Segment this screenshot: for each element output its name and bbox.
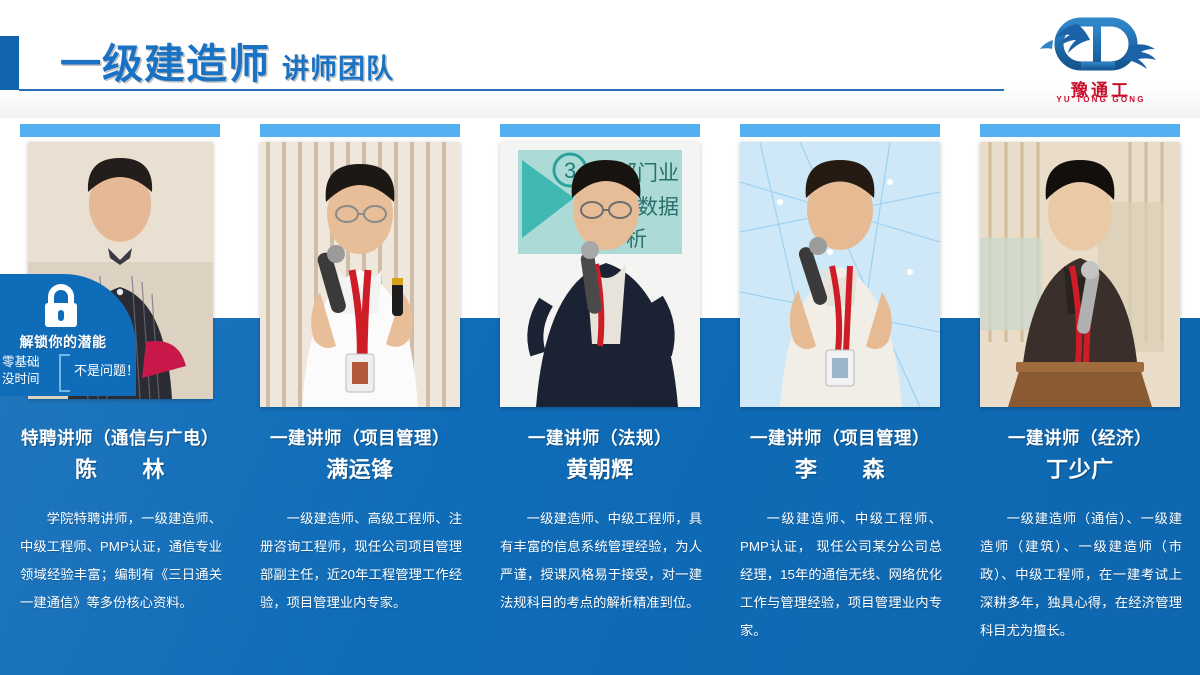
instructor-card-list: 解锁你的潜能 零基础 没时间 不是问题！ 特聘讲师（通信与广电） 陈 林 学院特… <box>0 0 1200 675</box>
card-top-bar <box>740 124 940 137</box>
portrait-image <box>980 142 1180 407</box>
instructor-card[interactable]: 3 部门业 大数据 析 <box>480 0 720 675</box>
instructor-photo <box>980 142 1180 407</box>
card-top-bar <box>20 124 220 137</box>
instructor-card[interactable]: 一建讲师（经济） 丁少广 一级建造师（通信）、一级建造师（建筑）、一级建造师（市… <box>960 0 1200 675</box>
lock-icon <box>38 284 84 328</box>
slide-root: 一级建造师 讲师团队 豫通工 YU TONG GONG <box>0 0 1200 675</box>
instructor-card[interactable]: 一建讲师（项目管理） 满运锋 一级建造师、高级工程师、注册咨询工程师，现任公司项… <box>240 0 480 675</box>
instructor-bio: 学院特聘讲师，一级建造师、中级工程师、PMP认证，通信专业领域经验丰富；编制有《… <box>20 505 222 617</box>
instructor-bio: 一级建造师（通信）、一级建造师（建筑）、一级建造师（市政）、中级工程师，在一建考… <box>980 505 1182 645</box>
portrait-image <box>260 142 460 407</box>
instructor-name: 满运锋 <box>244 452 476 484</box>
unlock-potential-badge: 解锁你的潜能 零基础 没时间 不是问题！ <box>0 274 136 396</box>
instructor-photo: 3 部门业 大数据 析 <box>500 142 700 407</box>
instructor-name: 丁少广 <box>964 452 1196 484</box>
instructor-card[interactable]: 解锁你的潜能 零基础 没时间 不是问题！ 特聘讲师（通信与广电） 陈 林 学院特… <box>0 0 240 675</box>
badge-left-line1: 零基础 <box>2 354 56 371</box>
instructor-photo <box>260 142 460 407</box>
instructor-role: 一建讲师（项目管理） <box>244 428 476 449</box>
instructor-bio: 一级建造师、中级工程师，具有丰富的信息系统管理经验，为人严谨，授课风格易于接受，… <box>500 505 702 617</box>
portrait-image <box>740 142 940 407</box>
instructor-role: 特聘讲师（通信与广电） <box>4 428 236 449</box>
instructor-card[interactable]: 一建讲师（项目管理） 李 森 一级建造师、中级工程师、 PMP认证， 现任公司某… <box>720 0 960 675</box>
badge-left-line2: 没时间 <box>2 371 56 388</box>
instructor-bio: 一级建造师、高级工程师、注册咨询工程师，现任公司项目管理部副主任，近20年工程管… <box>260 505 462 617</box>
badge-headline: 解锁你的潜能 <box>0 332 136 352</box>
instructor-name: 李 森 <box>724 452 956 484</box>
instructor-name: 黄朝辉 <box>484 452 716 484</box>
badge-right-text: 不是问题！ <box>74 362 139 379</box>
card-top-bar <box>260 124 460 137</box>
instructor-name: 陈 林 <box>4 452 236 484</box>
instructor-bio: 一级建造师、中级工程师、 PMP认证， 现任公司某分公司总经理，15年的通信无线… <box>740 505 942 645</box>
badge-brace <box>59 354 70 392</box>
instructor-role: 一建讲师（项目管理） <box>724 428 956 449</box>
card-top-bar <box>500 124 700 137</box>
instructor-photo <box>740 142 940 407</box>
instructor-role: 一建讲师（法规） <box>484 428 716 449</box>
instructor-role: 一建讲师（经济） <box>964 428 1196 449</box>
portrait-image: 3 部门业 大数据 析 <box>500 142 700 407</box>
badge-left-text: 零基础 没时间 <box>2 354 56 388</box>
card-top-bar <box>980 124 1180 137</box>
